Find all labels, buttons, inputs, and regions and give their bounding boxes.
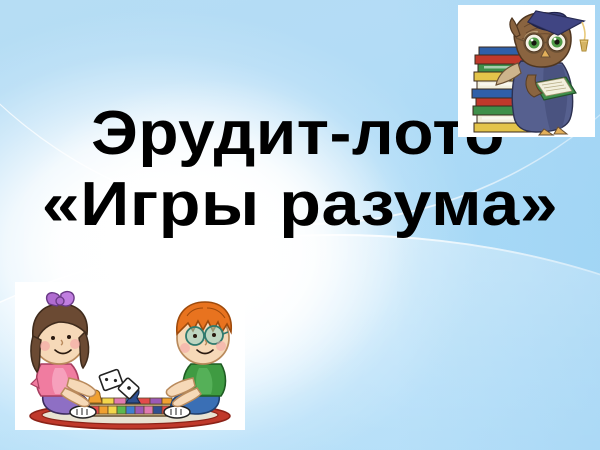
owl-scholar-image xyxy=(458,5,595,137)
children-playing-board-game-image xyxy=(15,282,245,430)
title-line-2: «Игры разума» xyxy=(0,175,600,236)
children-board-game-illustration xyxy=(15,282,245,430)
owl-scholar-illustration xyxy=(458,5,595,137)
presentation-slide: Эрудит-лото «Игры разума» xyxy=(0,0,600,450)
